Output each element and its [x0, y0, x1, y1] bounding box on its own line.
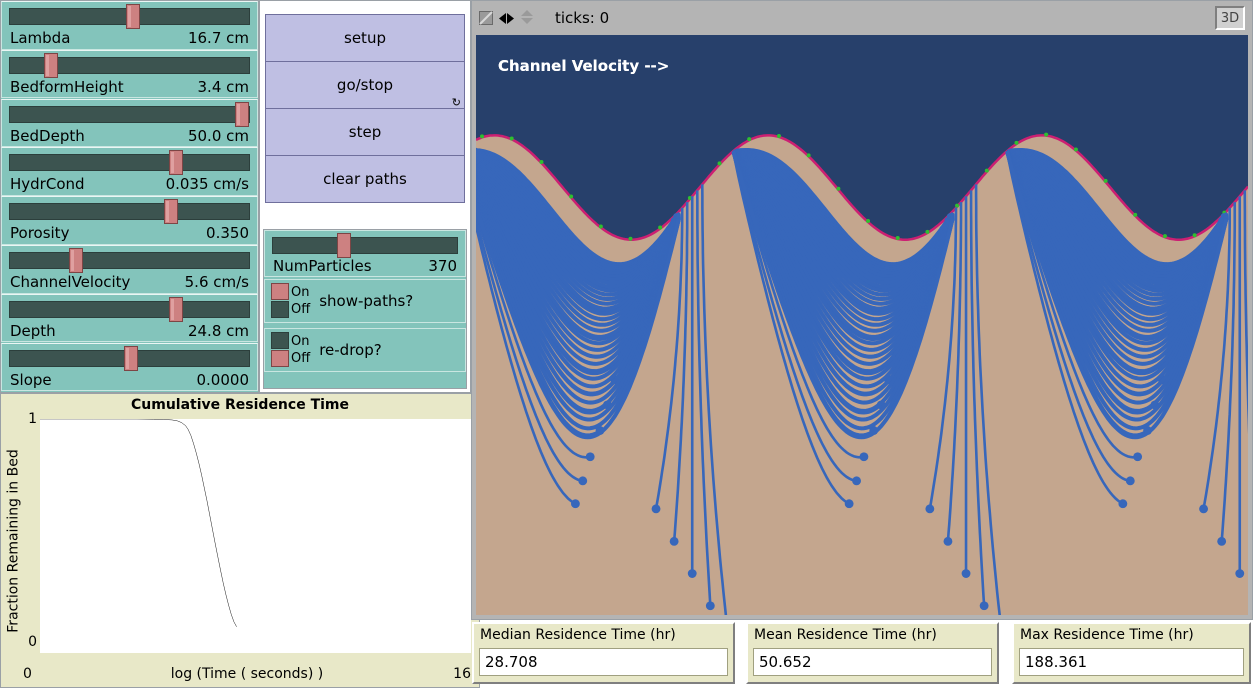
- particle-marker: [1199, 504, 1208, 513]
- slider-handle[interactable]: [164, 199, 178, 224]
- particle-marker: [859, 452, 868, 461]
- switch-knob-off[interactable]: [271, 350, 289, 367]
- seed-marker: [628, 237, 632, 241]
- slider-value: 50.0 cm: [188, 126, 249, 146]
- seed-marker: [1104, 179, 1108, 183]
- particle-marker: [845, 499, 854, 508]
- particle-marker: [670, 537, 679, 546]
- slider-porosity[interactable]: Porosity0.350: [1, 196, 258, 245]
- slider-handle[interactable]: [124, 346, 138, 371]
- slider-handle[interactable]: [69, 248, 83, 273]
- slider-track[interactable]: [9, 203, 250, 220]
- seed-marker: [1014, 141, 1018, 145]
- particle-marker: [688, 569, 697, 578]
- slider-label: NumParticles: [273, 257, 372, 275]
- monitor-value: 28.708: [479, 648, 728, 676]
- particle-marker: [1235, 569, 1244, 578]
- seed-marker: [807, 153, 811, 157]
- slider-handle[interactable]: [235, 102, 249, 127]
- button-label: clear paths: [323, 170, 407, 188]
- horizontal-arrows-icon[interactable]: [498, 10, 515, 29]
- slider-value: 24.8 cm: [188, 321, 249, 341]
- switch-on-label: On: [291, 284, 310, 301]
- slider-value: 3.4 cm: [198, 77, 249, 97]
- slider-lambda[interactable]: Lambda16.7 cm: [1, 1, 258, 50]
- wrap-icon[interactable]: [479, 10, 493, 29]
- seed-marker: [1074, 147, 1078, 151]
- seed-marker: [925, 230, 929, 234]
- slider-beddepth[interactable]: BedDepth50.0 cm: [1, 99, 258, 148]
- slider-label: HydrCond: [10, 174, 85, 194]
- switch-knob-off[interactable]: [271, 301, 289, 318]
- particle-marker: [1133, 452, 1142, 461]
- slider-track[interactable]: [9, 301, 250, 318]
- seed-marker: [1193, 233, 1197, 237]
- slider-track[interactable]: [272, 237, 458, 254]
- switch-show-paths-[interactable]: OnOffshow-paths?: [264, 279, 466, 323]
- monitor-mean-residence-time: Mean Residence Time (hr) 50.652: [746, 622, 999, 684]
- seed-marker: [985, 169, 989, 173]
- slider-handle[interactable]: [169, 297, 183, 322]
- slider-value: 16.7 cm: [188, 28, 249, 48]
- clear-paths-button[interactable]: clear paths: [265, 155, 465, 203]
- slider-handle[interactable]: [169, 150, 183, 175]
- switch-knob-on[interactable]: [271, 283, 289, 300]
- seed-marker: [510, 136, 514, 140]
- particle-marker: [944, 537, 953, 546]
- seed-marker: [955, 204, 959, 208]
- slider-value: 0.350: [206, 223, 249, 243]
- cumulative-residence-time-plot: Cumulative Residence Time Fraction Remai…: [0, 393, 480, 688]
- plot-y-axis-label: Fraction Remaining in Bed: [3, 394, 25, 687]
- slider-depth[interactable]: Depth24.8 cm: [1, 294, 258, 343]
- slider-label: Lambda: [10, 28, 70, 48]
- particle-marker: [925, 504, 934, 513]
- plot-canvas: [40, 419, 471, 653]
- slider-label: BedDepth: [10, 126, 85, 146]
- slider-label: Porosity: [10, 223, 69, 243]
- slider-handle[interactable]: [44, 53, 58, 78]
- slider-channelvelocity[interactable]: ChannelVelocity5.6 cm/s: [1, 245, 258, 294]
- slider-slope[interactable]: Slope0.0000: [1, 343, 258, 392]
- setup-button[interactable]: setup: [265, 14, 465, 62]
- step-button[interactable]: step: [265, 108, 465, 156]
- button-wrap-go-stop: go/stop↻: [265, 61, 465, 109]
- switch-label: show-paths?: [319, 292, 413, 310]
- particle-marker: [578, 476, 587, 485]
- plot-x-axis-label: log (Time ( seconds) ): [23, 666, 471, 682]
- switch-knob-column[interactable]: [271, 283, 289, 319]
- slider-label: ChannelVelocity: [10, 272, 130, 292]
- simulation-world-canvas[interactable]: Channel Velocity -->: [476, 35, 1248, 615]
- slider-bedformheight[interactable]: BedformHeight3.4 cm: [1, 50, 258, 99]
- seed-marker: [658, 226, 662, 230]
- particle-marker: [1126, 476, 1135, 485]
- button-label: step: [349, 123, 381, 141]
- particle-marker: [962, 569, 971, 578]
- seed-marker: [836, 187, 840, 191]
- slider-label: Slope: [10, 370, 52, 390]
- monitor-value: 50.652: [753, 648, 992, 676]
- switch-label: re-drop?: [319, 341, 382, 359]
- seed-marker: [1163, 234, 1167, 238]
- slider-value: 5.6 cm/s: [185, 272, 249, 292]
- switch-off-label: Off: [291, 301, 310, 318]
- seed-marker: [1044, 133, 1048, 137]
- seed-marker: [569, 194, 573, 198]
- particle-marker: [852, 476, 861, 485]
- switch-on-label: On: [291, 333, 310, 350]
- slider-track[interactable]: [9, 252, 250, 269]
- slider-track[interactable]: [9, 154, 250, 171]
- slider-track[interactable]: [9, 106, 250, 123]
- go-stop-button[interactable]: go/stop↻: [265, 61, 465, 109]
- plot-y-max-tick: 1: [23, 411, 37, 427]
- particle-marker: [571, 499, 580, 508]
- view-toolbar: ticks: 0 3D: [472, 1, 1252, 37]
- seed-marker: [896, 236, 900, 240]
- seed-marker: [1133, 213, 1137, 217]
- switch-knob-column[interactable]: [271, 332, 289, 368]
- plot-series-line: [40, 419, 237, 627]
- slider-hydrcond[interactable]: HydrCond0.035 cm/s: [1, 147, 258, 196]
- slider-label: Depth: [10, 321, 56, 341]
- seed-marker: [777, 134, 781, 138]
- seed-marker: [599, 225, 603, 229]
- slider-value: 0.035 cm/s: [166, 174, 249, 194]
- particle-marker: [706, 601, 715, 610]
- channel-velocity-label: Channel Velocity -->: [498, 57, 669, 75]
- plot-y-min-tick: 0: [23, 634, 37, 650]
- plot-title: Cumulative Residence Time: [1, 397, 479, 413]
- seed-marker: [480, 134, 484, 138]
- netlogo-model-window: Lambda16.7 cmBedformHeight3.4 cmBedDepth…: [0, 0, 1253, 688]
- forever-loop-icon: ↻: [452, 97, 461, 108]
- monitor-median-residence-time: Median Residence Time (hr) 28.708: [472, 622, 735, 684]
- monitor-label: Max Residence Time (hr): [1020, 627, 1194, 643]
- button-label: setup: [344, 29, 386, 47]
- monitor-label: Median Residence Time (hr): [480, 627, 676, 643]
- slider-value: 0.0000: [197, 370, 250, 390]
- slider-value: 370: [428, 257, 457, 275]
- button-wrap-clear-paths: clear paths: [265, 155, 465, 203]
- slider-handle[interactable]: [126, 4, 140, 29]
- parameter-sliders-panel: Lambda16.7 cmBedformHeight3.4 cmBedDepth…: [0, 0, 259, 393]
- seed-marker: [866, 219, 870, 223]
- slider-numparticles[interactable]: NumParticles370: [264, 230, 466, 277]
- particle-marker: [586, 452, 595, 461]
- tick-counter: ticks: 0: [555, 9, 609, 27]
- particle-marker: [1217, 537, 1226, 546]
- view-3d-button[interactable]: 3D: [1215, 6, 1245, 30]
- switch-knob-on[interactable]: [271, 332, 289, 349]
- monitor-label: Mean Residence Time (hr): [754, 627, 937, 643]
- button-wrap-setup: setup: [265, 14, 465, 62]
- monitor-max-residence-time: Max Residence Time (hr) 188.361: [1012, 622, 1251, 684]
- particle-controls-panel: NumParticles370OnOffshow-paths?OnOffre-d…: [263, 229, 467, 389]
- vertical-arrows-icon[interactable]: [520, 9, 534, 29]
- switch-off-label: Off: [291, 350, 310, 367]
- switch-re-drop-[interactable]: OnOffre-drop?: [264, 328, 466, 372]
- seed-marker: [539, 160, 543, 164]
- view-toolbar-icons: [479, 9, 534, 29]
- slider-label: BedformHeight: [10, 77, 124, 97]
- monitor-value: 188.361: [1019, 648, 1244, 676]
- particle-marker: [1118, 499, 1127, 508]
- plot-x-axis: 0 log (Time ( seconds) ) 16: [23, 663, 471, 685]
- world-view-panel: ticks: 0 3D Channel Velocity -->: [471, 0, 1253, 620]
- particle-marker: [980, 601, 989, 610]
- button-label: go/stop: [337, 76, 393, 94]
- button-wrap-step: step: [265, 108, 465, 156]
- particle-marker: [652, 504, 661, 513]
- seed-marker: [747, 137, 751, 141]
- seed-marker: [718, 161, 722, 165]
